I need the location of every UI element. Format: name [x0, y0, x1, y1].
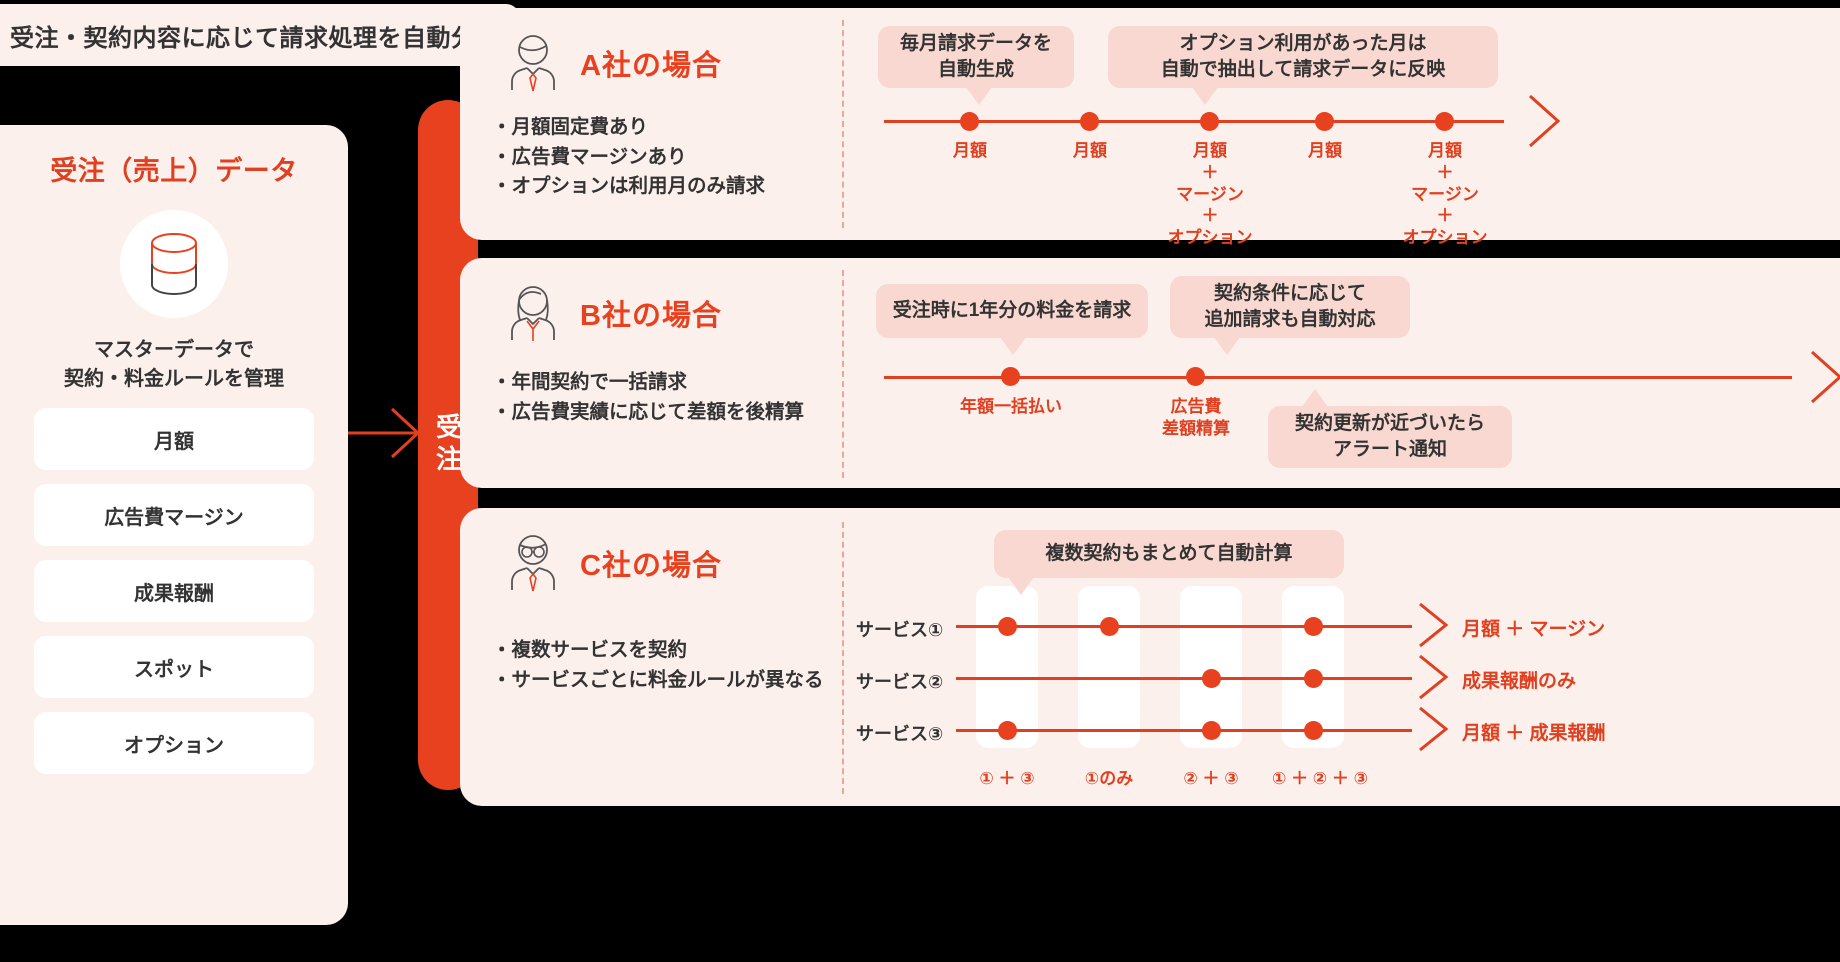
case-card-c: C社の場合 ・複数サービスを契約 ・サービスごとに料金ルールが異なる 複数契約も…	[460, 508, 1840, 806]
case-card-a: A社の場合 ・月額固定費あり ・広告費マージンあり ・オプションは利用月のみ請求…	[460, 8, 1840, 240]
case-c-row-2-label: サービス②	[856, 668, 943, 694]
order-data-subtitle-line2: 契約・料金ルールを管理	[0, 365, 348, 394]
rule-chip-performance-fee[interactable]: 成果報酬	[34, 560, 314, 622]
case-b-bullet-1: ・年間契約で一括請求	[492, 368, 804, 398]
case-c-divider	[842, 522, 844, 794]
case-b-divider	[842, 270, 844, 478]
case-a-bubble-2: オプション利用があった月は自動で抽出して請求データに反映	[1108, 26, 1498, 88]
case-a-title: A社の場合	[580, 42, 722, 84]
case-c-row-3-label: サービス③	[856, 720, 943, 746]
case-c-row-2-arrow	[1406, 654, 1456, 702]
case-b-node-2-label: 広告費差額精算	[1126, 396, 1266, 440]
case-a-node-4-label: 月額	[1255, 140, 1395, 162]
case-a-bullet-1: ・月額固定費あり	[492, 113, 765, 143]
order-data-subtitle-line1: マスターデータで	[0, 336, 348, 365]
case-a-bubble-2-text: オプション利用があった月は自動で抽出して請求データに反映	[1161, 31, 1445, 82]
case-b-bullet-2: ・広告費実績に応じて差額を後精算	[492, 398, 804, 428]
case-a-header: A社の場合	[500, 30, 722, 96]
case-c-row-1-dot-2	[1100, 617, 1119, 636]
case-a-bullets: ・月額固定費あり ・広告費マージンあり ・オプションは利用月のみ請求	[492, 113, 765, 202]
case-c-row-3-dot-3	[1304, 721, 1323, 740]
order-data-subtitle: マスターデータで 契約・料金ルールを管理	[0, 336, 348, 394]
case-a-bubble-1-text: 毎月請求データを自動生成	[900, 31, 1052, 82]
case-c-row-3-dot-1	[998, 721, 1017, 740]
arrow-into-order-bar	[348, 405, 424, 461]
case-c-row-2-dot-2	[1304, 669, 1323, 688]
case-c-row-1-dot-3	[1304, 617, 1323, 636]
case-a-node-1-label: 月額	[900, 140, 1040, 162]
case-a-bullet-3: ・オプションは利用月のみ請求	[492, 172, 765, 202]
case-a-node-1-dot	[960, 112, 979, 131]
page-title: 受注・契約内容に応じて請求処理を自動分岐	[0, 18, 500, 53]
case-c-row-2-dot-1	[1202, 669, 1221, 688]
case-c-bullets: ・複数サービスを契約 ・サービスごとに料金ルールが異なる	[492, 636, 824, 695]
case-b-bullets: ・年間契約で一括請求 ・広告費実績に応じて差額を後精算	[492, 368, 804, 427]
case-c-row-1-dot-1	[998, 617, 1017, 636]
database-icon-wrapper	[120, 210, 228, 318]
case-b-bubble-3-text: 契約更新が近づいたらアラート通知	[1295, 411, 1485, 462]
person-tie-icon	[500, 30, 566, 96]
rule-chip-ad-margin[interactable]: 広告費マージン	[34, 484, 314, 546]
case-card-b: B社の場合 ・年間契約で一括請求 ・広告費実績に応じて差額を後精算 受注時に1年…	[460, 258, 1840, 488]
case-c-bubble-1-text: 複数契約もまとめて自動計算	[1045, 541, 1292, 567]
case-a-bullet-2: ・広告費マージンあり	[492, 143, 765, 173]
case-b-node-1-dot	[1001, 367, 1020, 386]
case-a-node-5-dot	[1435, 112, 1454, 131]
case-a-node-3-dot	[1200, 112, 1219, 131]
database-icon	[146, 230, 202, 298]
case-c-row-1-label: サービス①	[856, 616, 943, 642]
case-b-title: B社の場合	[580, 292, 722, 334]
case-a-node-2-dot	[1080, 112, 1099, 131]
case-c-period-box-2	[1078, 586, 1140, 748]
rule-chip-option[interactable]: オプション	[34, 712, 314, 774]
person-long-hair-icon	[500, 280, 566, 346]
case-c-row-1-result: 月額 ＋ マージン	[1462, 614, 1605, 641]
case-b-bubble-3: 契約更新が近づいたらアラート通知	[1268, 406, 1512, 468]
case-c-bullet-1: ・複数サービスを契約	[492, 636, 824, 666]
order-data-heading: 受注（売上）データ	[0, 149, 348, 188]
case-b-timeline	[884, 376, 1792, 379]
person-glasses-icon	[500, 530, 566, 596]
case-a-node-2-label: 月額	[1020, 140, 1160, 162]
case-c-period-sum-4: ① ＋ ② ＋ ③	[1240, 764, 1400, 789]
case-c-row-3-dot-2	[1202, 721, 1221, 740]
case-c-row-3-arrow	[1406, 706, 1456, 754]
case-b-node-1-label: 年額一括払い	[911, 396, 1111, 418]
case-c-title: C社の場合	[580, 542, 722, 584]
case-b-bubble-1: 受注時に1年分の料金を請求	[876, 284, 1148, 338]
case-a-bubble-1: 毎月請求データを自動生成	[878, 26, 1074, 88]
rule-chip-monthly[interactable]: 月額	[34, 408, 314, 470]
case-c-row-2-result: 成果報酬のみ	[1462, 666, 1576, 693]
case-c-bubble-1: 複数契約もまとめて自動計算	[994, 530, 1344, 578]
case-c-bullet-2: ・サービスごとに料金ルールが異なる	[492, 666, 824, 696]
case-c-row-1-arrow	[1406, 602, 1456, 650]
case-c-row-3-result: 月額 ＋ 成果報酬	[1462, 718, 1606, 745]
case-b-timeline-arrow	[1786, 350, 1840, 406]
case-c-row-3-line	[956, 729, 1412, 732]
case-a-divider	[842, 20, 844, 228]
case-b-header: B社の場合	[500, 280, 722, 346]
case-a-node-4-dot	[1315, 112, 1334, 131]
order-data-card: 受注（売上）データ マスターデータで 契約・料金ルールを管理 月額 広告費マージ…	[0, 125, 348, 925]
case-c-row-2-line	[956, 677, 1412, 680]
title-banner: 受注・契約内容に応じて請求処理を自動分岐	[0, 4, 520, 66]
rule-chip-spot[interactable]: スポット	[34, 636, 314, 698]
case-c-header: C社の場合	[500, 530, 722, 596]
case-c-row-1-line	[956, 625, 1412, 628]
case-b-bubble-2: 契約条件に応じて追加請求も自動対応	[1170, 276, 1410, 338]
case-b-bubble-2-text: 契約条件に応じて追加請求も自動対応	[1204, 281, 1375, 332]
case-a-node-5-label: 月額＋マージン＋オプション	[1375, 140, 1515, 249]
case-b-bubble-1-text: 受注時に1年分の料金を請求	[893, 298, 1132, 324]
case-b-node-2-dot	[1186, 367, 1205, 386]
